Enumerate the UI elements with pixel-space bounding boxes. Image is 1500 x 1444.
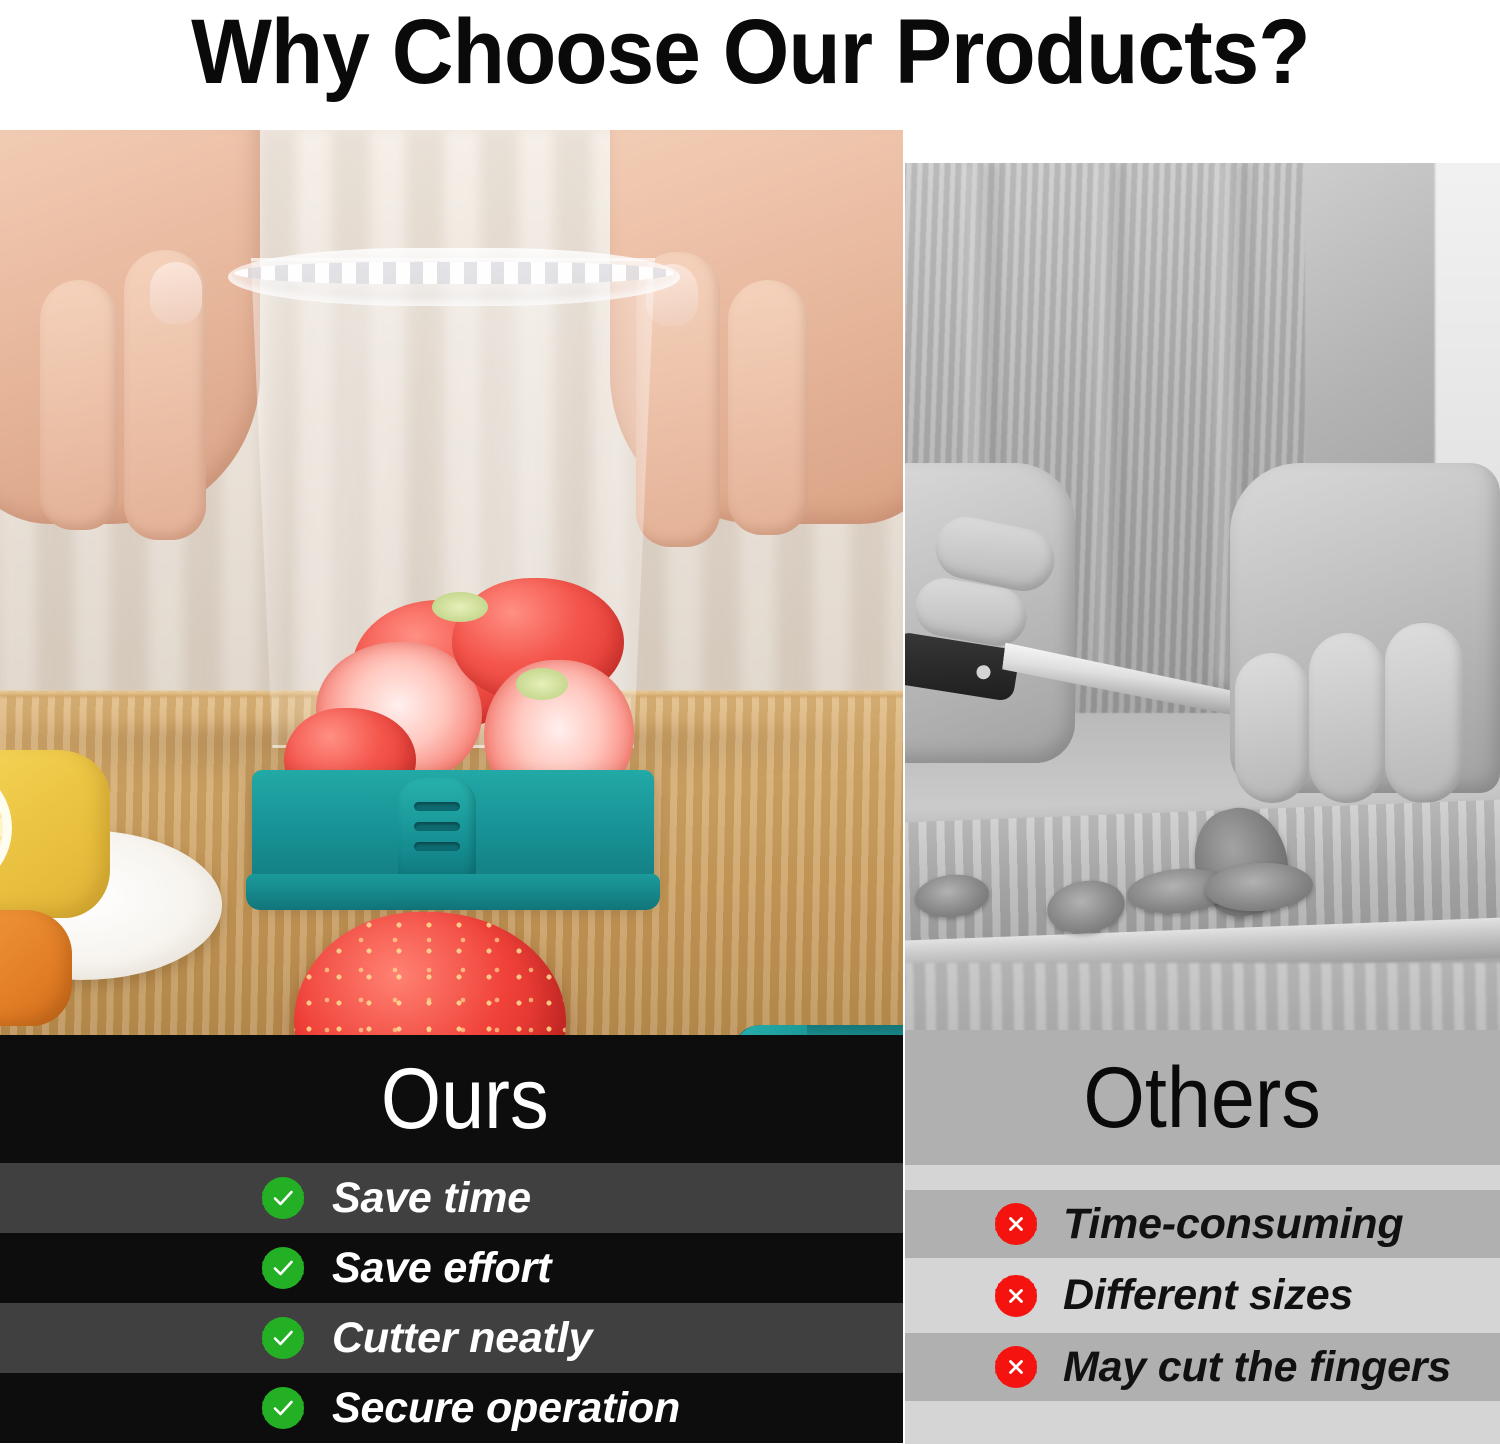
table-surface [905, 963, 1500, 1030]
others-spacer-row [905, 1165, 1500, 1190]
cup-scalloped-rim [228, 248, 680, 306]
teal-slicer-bowl [735, 1025, 905, 1035]
ours-feature-row: Save effort [0, 1233, 905, 1303]
check-seal-icon [262, 1177, 304, 1219]
others-feature-label: Time-consuming [1063, 1200, 1403, 1249]
others-knife-photo [905, 163, 1500, 1030]
right-finger-a [1235, 653, 1309, 803]
slicer-latch-knob [398, 778, 476, 882]
others-label-band: Others [905, 1030, 1500, 1165]
others-feature-label: Different sizes [1063, 1271, 1353, 1320]
ours-feature-label: Secure operation [332, 1384, 680, 1433]
ours-feature-row: Cutter neatly [0, 1303, 905, 1373]
infographic-page: Why Choose Our Products? [0, 0, 1500, 1444]
page-title: Why Choose Our Products? [191, 0, 1310, 102]
panel-divider [903, 130, 905, 1444]
lemon-half [0, 750, 110, 918]
slicer-base-lip [246, 874, 660, 910]
orange-wedge [0, 910, 72, 1026]
ours-feature-list: Save time Save effort [0, 1163, 905, 1443]
others-feature-row: May cut the fingers [905, 1333, 1500, 1401]
right-finger-2 [728, 280, 808, 535]
others-label: Others [1084, 1055, 1321, 1141]
check-seal-icon [262, 1247, 304, 1289]
whole-strawberry [294, 912, 566, 1035]
ours-feature-label: Save effort [332, 1244, 551, 1293]
ours-feature-label: Save time [332, 1174, 531, 1223]
strawberry-hull-1 [432, 592, 488, 622]
ours-product-photo [0, 130, 905, 1035]
cross-seal-icon [995, 1275, 1037, 1317]
check-seal-icon [262, 1387, 304, 1429]
left-thumbnail [150, 262, 202, 324]
ours-feature-row: Save time [0, 1163, 905, 1233]
others-feature-row: Time-consuming [905, 1190, 1500, 1258]
strawberry-hull-2 [516, 668, 568, 700]
ours-feature-label: Cutter neatly [332, 1314, 592, 1363]
others-feature-row: Different sizes [905, 1258, 1500, 1333]
ours-label-band: Ours [0, 1035, 905, 1163]
others-feature-list: Time-consuming Different sizes [905, 1165, 1500, 1444]
right-finger-b [1309, 633, 1385, 803]
others-feature-label: May cut the fingers [1063, 1343, 1451, 1392]
sweater-fold [1095, 163, 1125, 683]
panel-ours: Ours Save time [0, 130, 905, 1444]
right-finger-c [1385, 623, 1463, 803]
others-spacer-row [905, 1401, 1500, 1444]
left-finger-1 [40, 280, 118, 530]
cross-seal-icon [995, 1203, 1037, 1245]
ours-feature-row: Secure operation [0, 1373, 905, 1443]
page-title-bar: Why Choose Our Products? [0, 0, 1500, 130]
cross-seal-icon [995, 1346, 1037, 1388]
check-seal-icon [262, 1317, 304, 1359]
ours-label: Ours [356, 1056, 549, 1142]
panel-others: Others Time-consuming [905, 130, 1500, 1444]
